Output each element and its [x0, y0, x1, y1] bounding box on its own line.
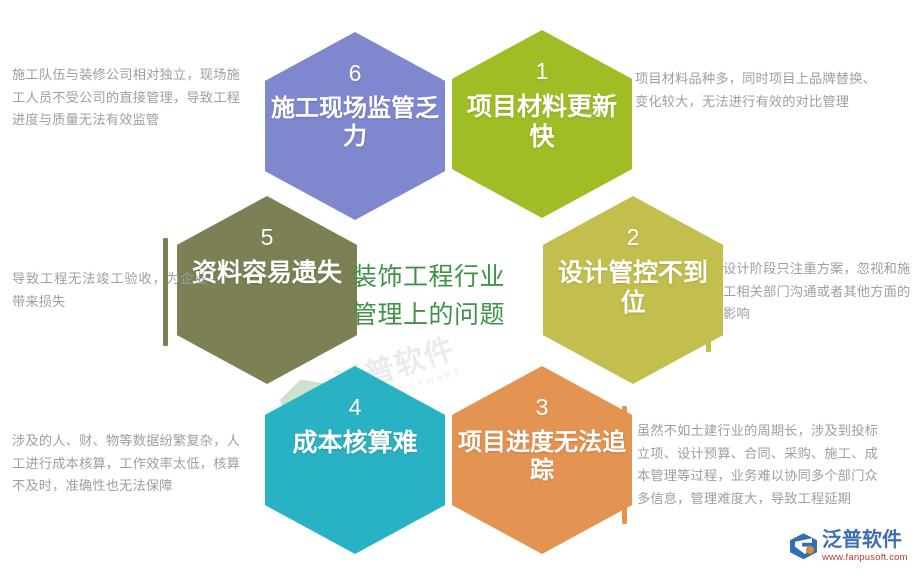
center-title: 装饰工程行业 管理上的问题 — [352, 258, 552, 334]
description-2: 设计阶段只注重方案，忽视和施工相关部门沟通或者其他方面的影响 — [723, 258, 913, 326]
center-title-line-1: 装饰工程行业 — [352, 258, 552, 296]
brand-logo-icon — [790, 533, 817, 559]
hexagon-number-6: 6 — [349, 62, 362, 85]
description-4: 涉及的人、财、物等数据纷繁复杂，人工进行成本核算，工作效率太低，核算不及时，准确… — [12, 430, 240, 498]
description-3: 虽然不如土建行业的周期长，涉及到投标立项、设计预算、合同、采购、施工、成本管理等… — [637, 420, 889, 511]
hexagon-number-1: 1 — [536, 60, 549, 83]
hexagon-item-1[interactable]: 1 项目材料更新快 — [452, 30, 632, 218]
brand-url: www.fanpusoft.com — [822, 553, 908, 563]
brand-name: 泛普软件 — [822, 530, 908, 550]
hexagon-title-5: 资料容易遗失 — [183, 259, 351, 289]
description-5: 导致工程无法竣工验收，为企业带来损失 — [12, 268, 208, 313]
hexagon-number-5: 5 — [261, 226, 274, 249]
hexagon-item-4[interactable]: 4 成本核算难 — [265, 366, 445, 554]
description-6: 施工队伍与装修公司相对独立，现场施工人员不受公司的直接管理，导致工程进度与质量无… — [12, 64, 240, 132]
hexagon-title-4: 成本核算难 — [271, 429, 439, 459]
hexagon-number-4: 4 — [349, 396, 362, 419]
hexagon-number-2: 2 — [627, 226, 640, 249]
hexagon-title-3: 项目进度无法追踪 — [454, 429, 630, 486]
hexagon-item-3[interactable]: 3 项目进度无法追踪 — [452, 366, 632, 554]
infographic-canvas: 泛普软件 FANPU SOFTWARE 6 施工现场监管乏力 1 项目材料更新快… — [0, 0, 918, 579]
brand-logo[interactable]: 泛普软件 www.fanpusoft.com — [790, 530, 908, 563]
hexagon-title-6: 施工现场监管乏力 — [267, 95, 443, 152]
hexagon-title-2: 设计管控不到位 — [549, 259, 717, 318]
hexagon-item-2[interactable]: 2 设计管控不到位 — [543, 196, 723, 384]
hexagon-item-6[interactable]: 6 施工现场监管乏力 — [265, 32, 445, 220]
hexagon-number-3: 3 — [536, 396, 549, 419]
description-1: 项目材料品种多，同时项目上品牌替换、变化较大，无法进行有效的对比管理 — [635, 68, 885, 113]
center-title-line-2: 管理上的问题 — [352, 296, 552, 334]
hexagon-title-1: 项目材料更新快 — [458, 93, 626, 152]
